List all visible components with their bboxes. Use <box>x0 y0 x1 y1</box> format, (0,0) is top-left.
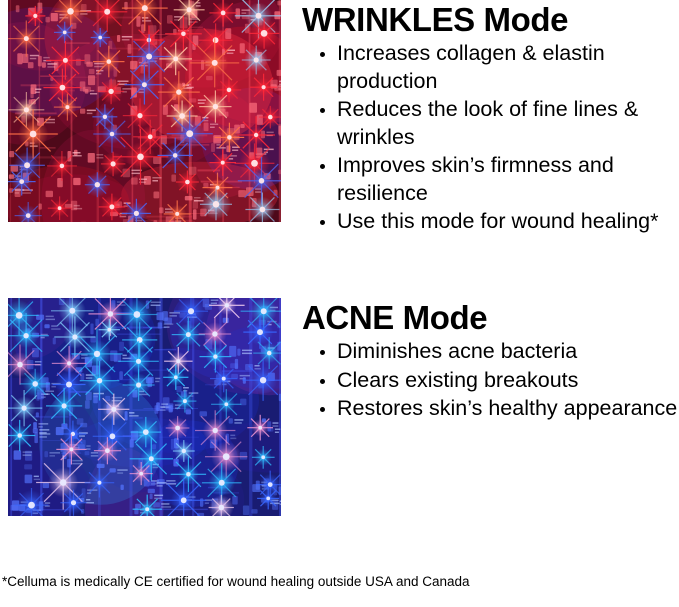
ce-certification-footnote: *Celluma is medically CE certified for w… <box>2 573 470 591</box>
acne-text-column: ACNE Mode Diminishes acne bacteriaClears… <box>302 298 679 423</box>
wrinkles-led-panel-photo <box>8 0 281 222</box>
bullet-text: Diminishes acne bacteria <box>337 338 679 366</box>
bullet-text: Improves skin’s firmness and resilience <box>337 152 679 207</box>
bullet-text: Increases collagen & elastin production <box>337 40 679 95</box>
wrinkles-text-column: WRINKLES Mode Increases collagen & elast… <box>302 0 679 236</box>
bullet-text: Use this mode for wound healing* <box>337 208 679 236</box>
list-item: Improves skin’s firmness and resilience <box>302 152 679 207</box>
bullet-text: Clears existing breakouts <box>337 367 679 395</box>
list-item: Restores skin’s healthy appearance <box>302 395 679 423</box>
list-item: Reduces the look of fine lines & wrinkle… <box>302 96 679 151</box>
wrinkles-benefit-list: Increases collagen & elastin productionR… <box>302 40 679 236</box>
bullet-text: Reduces the look of fine lines & wrinkle… <box>337 96 679 151</box>
list-item: Diminishes acne bacteria <box>302 338 679 366</box>
acne-benefit-list: Diminishes acne bacteriaClears existing … <box>302 338 679 423</box>
acne-led-panel-graphic <box>8 298 281 516</box>
wrinkles-led-panel-graphic <box>8 0 281 222</box>
acne-mode-section: ACNE Mode Diminishes acne bacteriaClears… <box>0 298 679 528</box>
acne-mode-heading: ACNE Mode <box>302 298 679 337</box>
list-item: Increases collagen & elastin production <box>302 40 679 95</box>
bullet-text: Restores skin’s healthy appearance <box>337 395 679 423</box>
wrinkles-mode-section: WRINKLES Mode Increases collagen & elast… <box>0 0 679 260</box>
list-item: Use this mode for wound healing* <box>302 208 679 236</box>
acne-led-panel-photo <box>8 298 281 516</box>
list-item: Clears existing breakouts <box>302 367 679 395</box>
mode-comparison-page: WRINKLES Mode Increases collagen & elast… <box>0 0 679 607</box>
wrinkles-mode-heading: WRINKLES Mode <box>302 0 679 39</box>
